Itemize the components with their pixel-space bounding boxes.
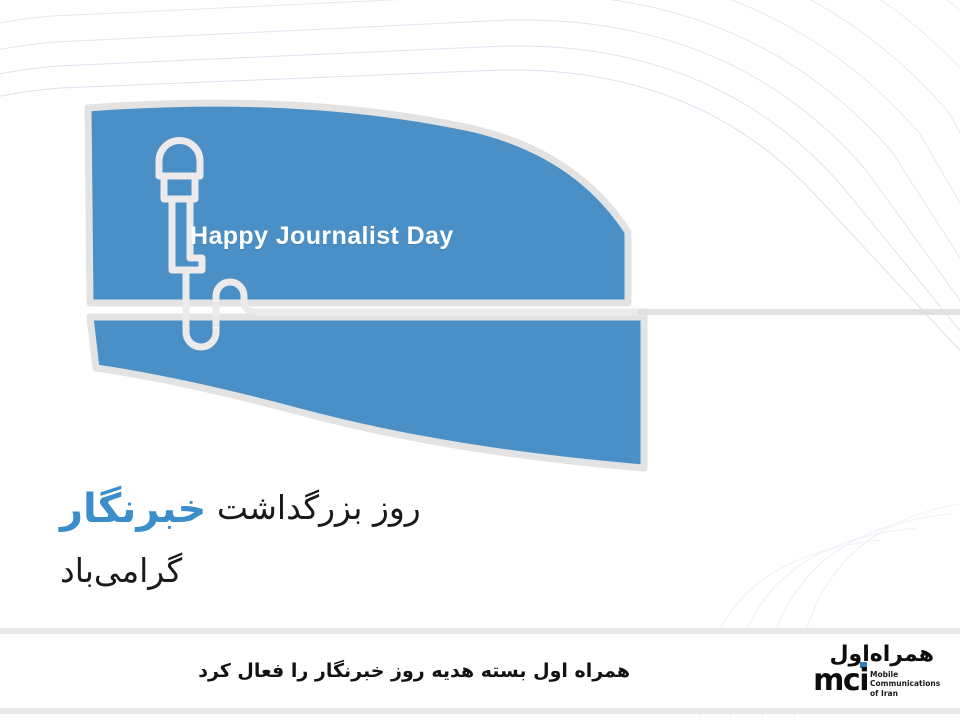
logo-tagline-line-1: Mobile [870,670,934,679]
persian-headline-line-1: روز بزرگداشت خبرنگار [60,484,480,534]
english-headline: Happy Journalist Day [190,222,454,251]
persian-headline-block: روز بزرگداشت خبرنگار گرامی‌باد [60,484,480,591]
logo-latin-name: mci [813,666,868,696]
logo-tagline-line-2: Communications [870,679,934,688]
mci-logo: همراه‌اول mci Mobile Communications of I… [775,640,940,702]
persian-headline-line-2: گرامی‌باد [60,550,480,591]
persian-headline-highlight: خبرنگار [60,486,206,532]
persian-headline-prefix: روز بزرگداشت [206,488,420,527]
footer-headline: همراه اول بسته هدیه روز خبرنگار را فعال … [198,660,630,682]
logo-tagline-line-3: of Iran [870,689,934,698]
logo-tagline: Mobile Communications of Iran [870,670,934,698]
footer-inner: همراه اول بسته هدیه روز خبرنگار را فعال … [0,634,960,708]
poster-canvas: Happy Journalist Day روز بزرگداشت خبرنگا… [0,0,960,720]
footer-band: همراه اول بسته هدیه روز خبرنگار را فعال … [0,628,960,714]
